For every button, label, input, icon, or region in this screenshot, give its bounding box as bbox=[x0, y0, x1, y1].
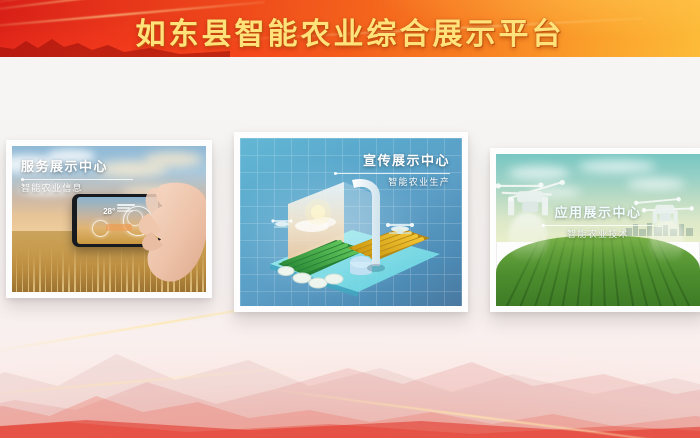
card-promotion-caption: 宣传展示中心 智能农业生产 bbox=[334, 154, 450, 188]
card-promotion[interactable]: 宣传展示中心 智能农业生产 bbox=[234, 132, 468, 312]
card-application-image: 应用展示中心 智能农业技术 bbox=[496, 154, 700, 306]
card-service-title: 服务展示中心 bbox=[21, 160, 133, 174]
card-service-caption: 服务展示中心 智能农业信息 bbox=[21, 160, 133, 194]
card-application[interactable]: 应用展示中心 智能农业技术 bbox=[490, 148, 700, 312]
card-application-subtitle: 智能农业技术 bbox=[542, 230, 654, 240]
hud-temperature: 28° bbox=[103, 207, 115, 216]
card-service[interactable]: 28° bbox=[6, 140, 212, 298]
caption-rule bbox=[21, 179, 133, 180]
cloud-4 bbox=[144, 152, 202, 167]
app-root: 如东县智能农业综合展示平台 bbox=[0, 0, 700, 438]
card-promotion-image: 宣传展示中心 智能农业生产 bbox=[240, 138, 462, 306]
header-banner: 如东县智能农业综合展示平台 bbox=[0, 0, 700, 57]
caption-rule bbox=[334, 173, 450, 174]
card-application-title: 应用展示中心 bbox=[542, 206, 654, 220]
page-title: 如东县智能农业综合展示平台 bbox=[0, 9, 700, 53]
card-service-image: 28° bbox=[12, 146, 206, 292]
mountain-range-front bbox=[0, 408, 700, 438]
cloud-2 bbox=[578, 160, 656, 173]
card-promotion-subtitle: 智能农业生产 bbox=[334, 178, 450, 188]
caption-rule bbox=[542, 225, 654, 226]
hud-bar-3 bbox=[117, 210, 133, 212]
hud-chip bbox=[106, 224, 132, 231]
hud-bar-2 bbox=[117, 207, 130, 209]
card-service-subtitle: 智能农业信息 bbox=[21, 184, 133, 194]
hand-holding-phone bbox=[132, 178, 206, 283]
card-application-caption: 应用展示中心 智能农业技术 bbox=[542, 206, 654, 240]
card-promotion-title: 宣传展示中心 bbox=[334, 154, 450, 168]
